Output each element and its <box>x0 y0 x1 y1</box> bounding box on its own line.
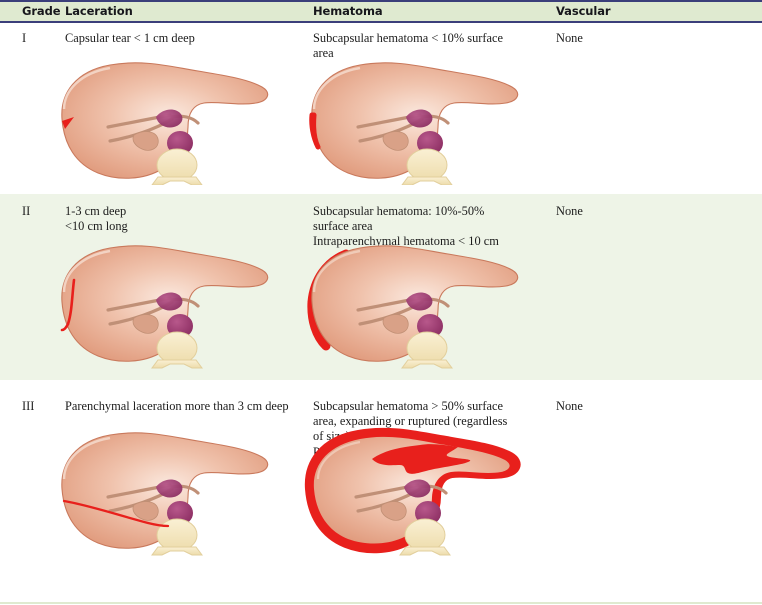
column-header-laceration: Laceration <box>65 4 305 18</box>
row-separator <box>0 380 762 389</box>
liver-figure-grade-1-hematoma <box>302 57 532 185</box>
row-laceration-text: Parenchymal laceration more than 3 cm de… <box>65 399 315 414</box>
row-laceration-text: Capsular tear < 1 cm deep <box>65 31 305 46</box>
row-laceration-text: 1-3 cm deep <10 cm long <box>65 204 305 234</box>
table-row: I Capsular tear < 1 cm deep Subcapsular … <box>0 23 762 185</box>
table-header-row: Grade Laceration Hematoma Vascular <box>0 2 762 21</box>
row-grade-value: II <box>22 204 62 219</box>
table-bottom-rule <box>0 602 762 604</box>
table-row: III Parenchymal laceration more than 3 c… <box>0 389 762 604</box>
liver-figure-grade-3-laceration <box>52 427 282 562</box>
column-header-hematoma: Hematoma <box>313 4 545 18</box>
row-separator <box>0 185 762 194</box>
row-vascular-text: None <box>556 31 746 46</box>
row-grade-value: I <box>22 31 62 46</box>
table-row: II 1-3 cm deep <10 cm long Subcapsular h… <box>0 194 762 380</box>
liver-injury-grading-table: Grade Laceration Hematoma Vascular I Cap… <box>0 0 762 604</box>
row-grade-value: III <box>22 399 62 414</box>
liver-figure-grade-2-laceration <box>52 240 282 372</box>
liver-figure-grade-2-hematoma <box>302 240 532 372</box>
liver-figure-grade-3-hematoma <box>300 427 536 569</box>
row-vascular-text: None <box>556 204 746 219</box>
column-header-vascular: Vascular <box>556 4 746 18</box>
liver-figure-grade-1-laceration <box>52 57 282 185</box>
row-vascular-text: None <box>556 399 746 414</box>
column-header-grade: Grade <box>22 4 62 18</box>
